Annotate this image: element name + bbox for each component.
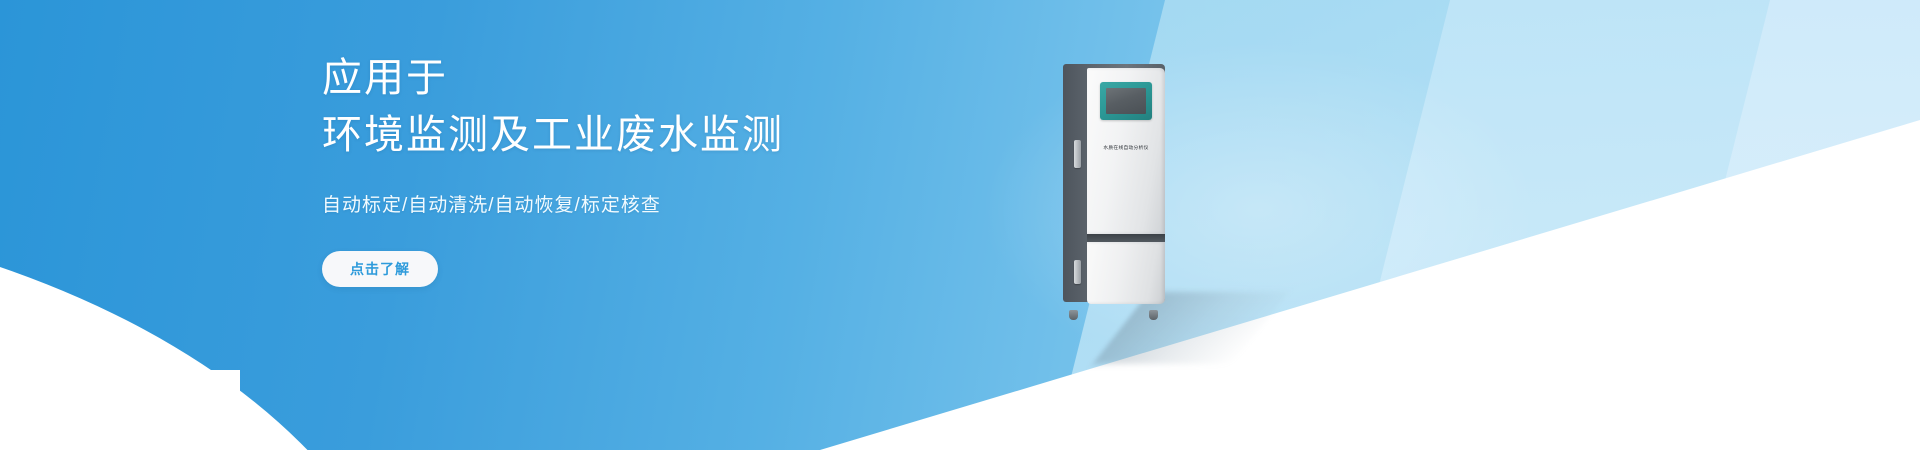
caster-left [1069, 310, 1078, 320]
caster-right [1149, 310, 1158, 320]
hero-copy-block: 应用于 环境监测及工业废水监测 自动标定/自动清洗/自动恢复/标定核查 点击了解 [322, 50, 1082, 287]
page-title: 应用于 环境监测及工业废水监测 [322, 50, 1082, 164]
hero-banner: 应用于 环境监测及工业废水监测 自动标定/自动清洗/自动恢复/标定核查 点击了解… [0, 0, 1920, 450]
learn-more-button[interactable]: 点击了解 [322, 251, 438, 287]
hero-subtitle: 自动标定/自动清洗/自动恢复/标定核查 [322, 190, 1082, 217]
display-screen [1106, 88, 1146, 114]
display-bezel [1100, 82, 1152, 120]
background-corner-notch-fill [0, 370, 240, 450]
cabinet-lower-door [1087, 242, 1165, 304]
product-label: 水质在线自动分析仪 [1089, 144, 1163, 151]
